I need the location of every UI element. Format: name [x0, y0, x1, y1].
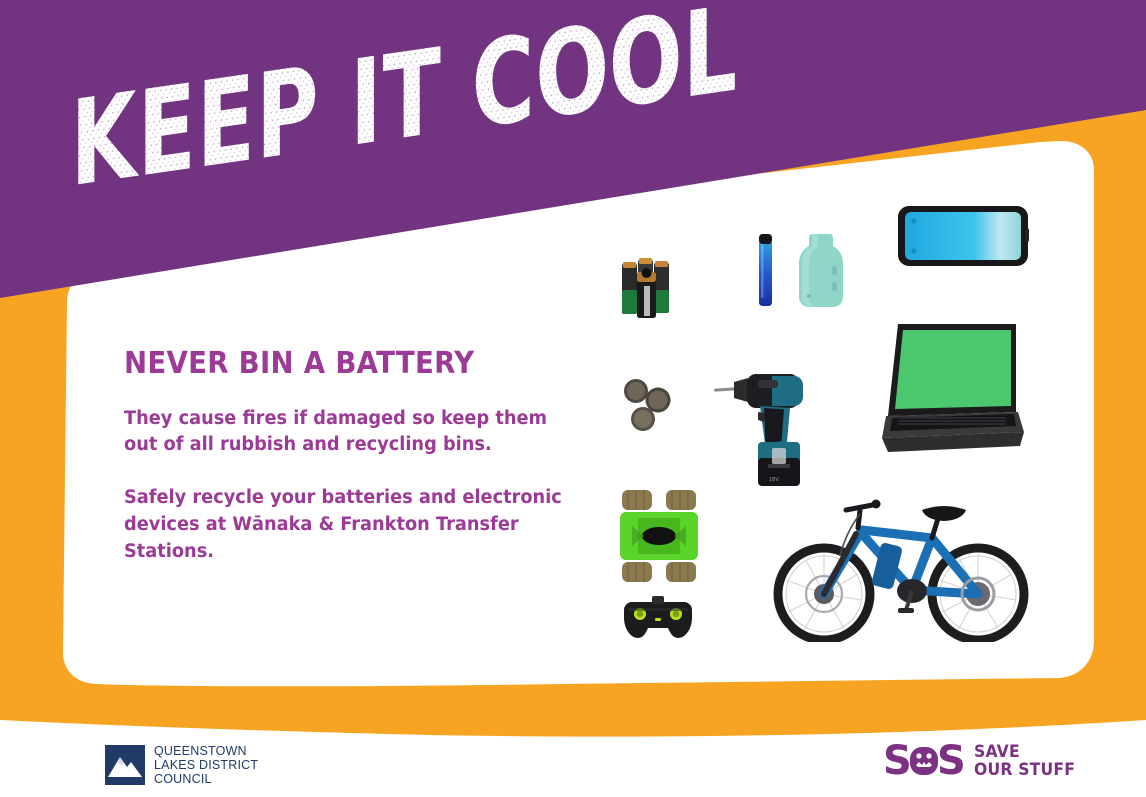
sos-logo[interactable]: S S SAVE OUR STUFF — [884, 741, 1084, 781]
sos-character-logo: S S — [884, 741, 966, 781]
vape-pod-photo — [796, 230, 846, 312]
button-cell-batteries-photo — [622, 378, 678, 436]
cordless-drill-photo: 18V — [712, 368, 822, 498]
smartphone-photo — [896, 200, 1030, 272]
qldc-line-1: QUEENSTOWN — [154, 744, 258, 758]
svg-text:S: S — [937, 741, 966, 781]
body-paragraph-2: Safely recycle your batteries and electr… — [124, 485, 566, 565]
qldc-line-2: LAKES DISTRICT — [154, 758, 258, 772]
qldc-logo[interactable]: QUEENSTOWN LAKES DISTRICT COUNCIL — [105, 744, 258, 786]
laptop-photo — [882, 320, 1024, 460]
electric-bike-photo — [772, 490, 1030, 642]
svg-text:18V: 18V — [769, 477, 779, 483]
rc-stunt-car-photo — [620, 488, 698, 584]
qldc-wordmark: QUEENSTOWN LAKES DISTRICT COUNCIL — [154, 744, 258, 786]
footer: QUEENSTOWN LAKES DISTRICT COUNCIL S S SA… — [0, 727, 1146, 797]
product-photo-grid: 18V — [600, 190, 1070, 670]
qldc-line-3: COUNCIL — [154, 772, 258, 786]
svg-text:S: S — [884, 741, 912, 781]
aa-battery-pack-photo — [618, 250, 680, 322]
game-controller-photo — [622, 592, 694, 644]
page-title: NEVER BIN A BATTERY — [124, 348, 547, 380]
body-paragraph-1: They cause fires if damaged so keep them… — [124, 406, 566, 460]
sos-line-1: SAVE — [974, 743, 1075, 761]
sos-line-2: OUR STUFF — [974, 761, 1075, 779]
mountain-icon — [105, 745, 145, 785]
copy-block: NEVER BIN A BATTERY They cause fires if … — [124, 348, 584, 566]
vape-pen-photo — [752, 230, 780, 310]
poster-canvas: KEEP IT COOL! NEVER BIN A BATTERY They c… — [0, 0, 1146, 797]
sos-wordmark: SAVE OUR STUFF — [974, 743, 1075, 780]
